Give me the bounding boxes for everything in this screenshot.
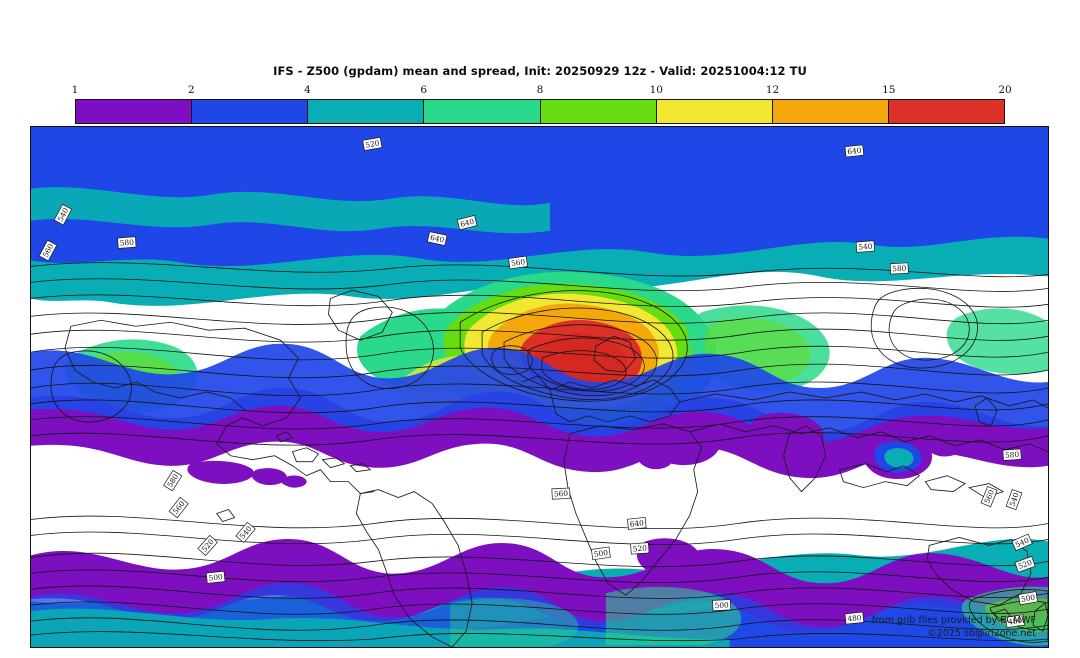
colorbar-segment-15-20	[889, 100, 1004, 123]
contour-label: 580	[118, 237, 136, 249]
colorbar-segment-4-6	[308, 100, 424, 123]
colorbar-segment-2-4	[192, 100, 308, 123]
colorbar-segment-8-10	[541, 100, 657, 123]
chart-page: IFS - Z500 (gpdam) mean and spread, Init…	[0, 0, 1080, 658]
svg-text:480: 480	[847, 613, 862, 623]
colorbar-tick-labels: 1246810121520	[75, 84, 1005, 98]
svg-text:640: 640	[629, 518, 644, 528]
colorbar-segment-10-12	[657, 100, 773, 123]
contour-label: 640	[845, 145, 864, 157]
contour-label: 640	[627, 517, 646, 529]
colorbar-tick-6: 6	[420, 84, 427, 96]
contour-label: 560	[509, 256, 528, 269]
contour-label: 520	[631, 543, 649, 555]
svg-text:580: 580	[1005, 450, 1020, 460]
colorbar-legend: 1246810121520	[75, 84, 1005, 122]
svg-text:540: 540	[858, 242, 873, 252]
svg-text:640: 640	[847, 146, 862, 156]
colorbar-tick-12: 12	[766, 84, 779, 96]
colorbar-tick-15: 15	[882, 84, 895, 96]
colorbar-swatches	[75, 99, 1005, 124]
colorbar-segment-6-8	[424, 100, 540, 123]
page-title: IFS - Z500 (gpdam) mean and spread, Init…	[0, 64, 1080, 78]
world-map-svg: 5206405606406405405805405605805805605405…	[31, 127, 1048, 647]
colorbar-tick-10: 10	[650, 84, 663, 96]
contour-label: 480	[845, 612, 864, 624]
contour-label: 500	[712, 600, 730, 611]
colorbar-tick-20: 20	[998, 84, 1011, 96]
svg-text:580: 580	[119, 238, 134, 248]
svg-text:520: 520	[632, 543, 647, 553]
map-panel: 5206405606406405405805405605805805605405…	[30, 126, 1049, 648]
colorbar-tick-4: 4	[304, 84, 311, 96]
contour-label: 580	[1003, 449, 1021, 461]
contour-label: 500	[206, 571, 225, 583]
colorbar-segment-1-2	[76, 100, 192, 123]
contour-label: 480	[1006, 615, 1025, 628]
colorbar-tick-1: 1	[72, 84, 79, 96]
svg-text:500: 500	[208, 572, 223, 582]
contour-label: 580	[890, 263, 908, 274]
svg-text:560: 560	[554, 489, 569, 499]
svg-text:500: 500	[714, 600, 729, 610]
svg-text:580: 580	[892, 264, 907, 274]
colorbar-tick-2: 2	[188, 84, 195, 96]
colorbar-tick-8: 8	[537, 84, 544, 96]
contour-label: 540	[856, 241, 874, 253]
contour-label: 560	[552, 488, 570, 499]
colorbar-segment-12-15	[773, 100, 889, 123]
contour-label: 500	[591, 547, 610, 560]
